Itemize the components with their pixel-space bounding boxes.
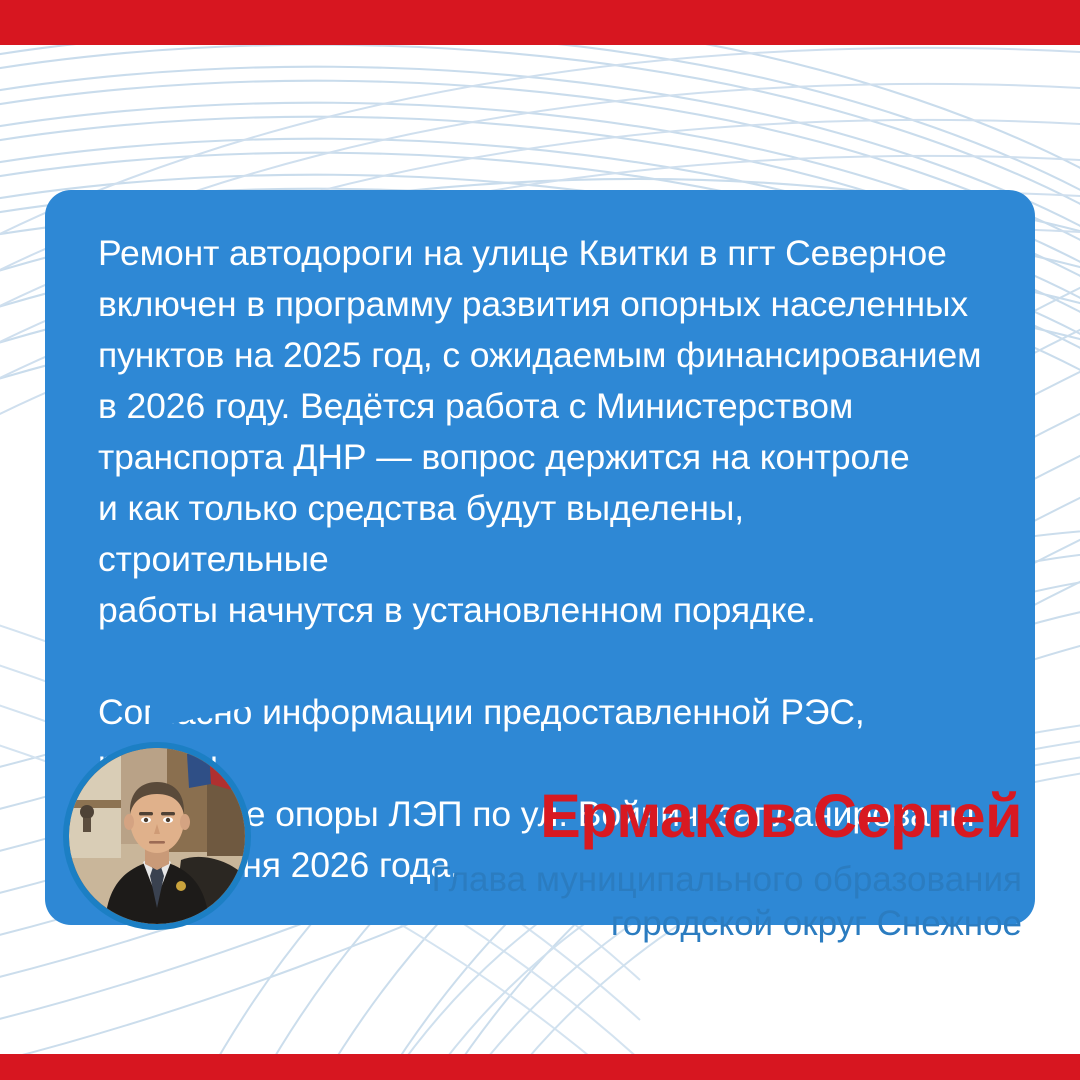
poster-canvas: Ремонт автодороги на улице Квитки в пгт …	[0, 0, 1080, 1080]
red-accent-bar-bottom	[0, 1054, 1080, 1080]
portrait-photo-icon	[69, 748, 245, 924]
signature-block: Ермаков Сергей Глава муниципального обра…	[322, 782, 1022, 946]
red-accent-bar-top	[0, 0, 1080, 45]
bubble-tail-icon	[150, 679, 370, 729]
speaker-name: Ермаков Сергей	[322, 782, 1022, 850]
quote-paragraph-1: Ремонт автодороги на улице Квитки в пгт …	[98, 228, 983, 636]
speaker-role: Глава муниципального образования городск…	[322, 858, 1022, 946]
avatar	[63, 742, 251, 930]
